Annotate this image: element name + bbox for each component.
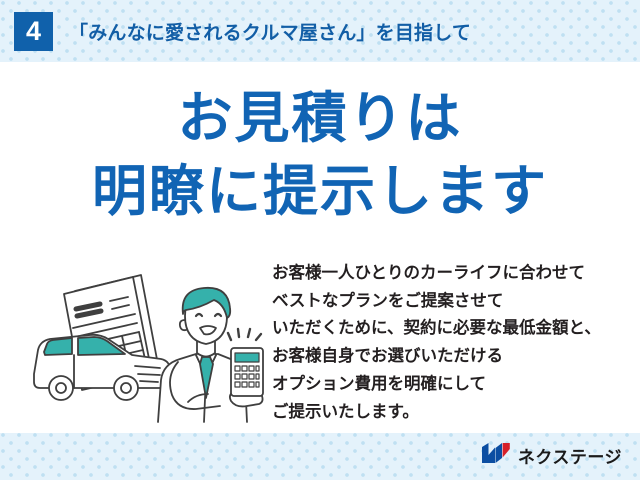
headline: お見積りは 明瞭に提示します	[0, 82, 640, 228]
lower-section: お客様一人ひとりのカーライフに合わせて ベストなプランをご提案させて いただくた…	[0, 252, 640, 433]
nextage-logo-text: ネクステージ	[518, 443, 622, 468]
headline-line-2: 明瞭に提示します	[0, 155, 640, 228]
headline-line-1: お見積りは	[0, 82, 640, 155]
footer-bar: ネクステージ	[0, 433, 640, 480]
sparkle-marks	[228, 329, 261, 340]
body-copy: お客様一人ひとりのカーライフに合わせて ベストなプランをご提案させて いただくた…	[272, 260, 601, 426]
body-copy-line-3: いただくために、契約に必要な最低金額と、	[272, 315, 601, 343]
content-card: お見積りは 明瞭に提示します	[0, 62, 640, 433]
nextage-logo: ネクステージ	[481, 442, 622, 468]
body-copy-line-2: ベストなプランをご提案させて	[272, 288, 601, 316]
calculator	[231, 348, 263, 396]
body-copy-line-6: ご提示いたします。	[272, 399, 601, 427]
body-copy-line-1: お客様一人ひとりのカーライフに合わせて	[272, 260, 601, 288]
header-title: 「みんなに愛されるクルマ屋さん」を目指して	[69, 18, 471, 45]
illustration-salesman-quotation	[28, 252, 268, 427]
nextage-n-mark-icon	[481, 442, 511, 469]
header-bar: 4 「みんなに愛されるクルマ屋さん」を目指して	[0, 0, 640, 62]
section-number-badge: 4	[14, 12, 53, 51]
slide-root: 4 「みんなに愛されるクルマ屋さん」を目指して お見積りは 明瞭に提示します	[0, 0, 640, 480]
body-copy-line-4: お客様自身でお選びいただける	[272, 343, 601, 371]
body-copy-line-5: オプション費用を明確にして	[272, 371, 601, 399]
